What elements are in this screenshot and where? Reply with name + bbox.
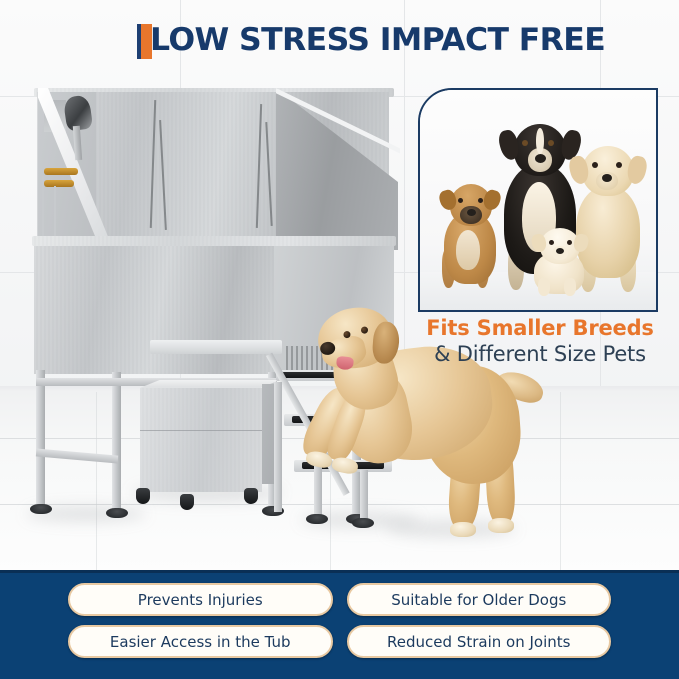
stair-leg	[274, 382, 282, 512]
dog-nose	[556, 248, 564, 254]
feature-pill-suitable-for-older-dogs[interactable]: Suitable for Older Dogs	[347, 583, 612, 616]
dog-eye	[567, 240, 572, 245]
dog-eye	[458, 198, 463, 203]
inset-photo-panel	[418, 88, 658, 312]
inset-caption-line2: & Different Size Pets	[418, 341, 662, 367]
dog-nose	[602, 174, 612, 182]
dog-eye	[616, 162, 622, 168]
dog-paw	[331, 456, 359, 475]
dog-chest-marking	[456, 230, 480, 270]
cabinet-drawer-seam	[140, 430, 262, 431]
caster-wheel	[136, 488, 150, 504]
dog-eye	[522, 140, 528, 146]
inset-dog-tan-mixed-breed	[436, 182, 502, 290]
inset-caption: Fits Smaller Breeds & Different Size Pet…	[418, 316, 662, 367]
tub-leg	[112, 372, 121, 514]
feature-pill-reduced-strain-on-joints[interactable]: Reduced Strain on Joints	[347, 625, 612, 658]
dog-eye	[361, 326, 369, 334]
dog-paw	[538, 278, 550, 296]
inset-dog-cream-labrador-puppy	[530, 228, 590, 296]
dog-nose	[535, 154, 546, 163]
feature-banner: Prevents Injuries Suitable for Older Dog…	[0, 570, 679, 679]
feature-pill-grid: Prevents Injuries Suitable for Older Dog…	[0, 583, 679, 658]
dog-eye	[478, 198, 483, 203]
dog-nose	[467, 209, 476, 216]
feature-pill-easier-access-in-the-tub[interactable]: Easier Access in the Tub	[68, 625, 333, 658]
tub-front-panel	[34, 246, 274, 374]
four-dogs-photo	[420, 90, 656, 310]
leveling-foot	[30, 504, 52, 514]
dog-paw	[488, 518, 514, 533]
dog-eye	[548, 140, 554, 146]
dog-face-blaze	[536, 128, 544, 154]
floor-tile-seam	[560, 392, 561, 572]
dog-eye	[592, 162, 598, 168]
caster-wheel	[244, 488, 258, 504]
product-feature-poster: LOW STRESS IMPACT FREE	[0, 0, 679, 679]
floor-tile-seam	[96, 392, 97, 572]
tub-rim	[32, 236, 396, 246]
tub-leg	[36, 370, 45, 510]
caster-wheel	[180, 494, 194, 510]
dog-paw	[450, 522, 476, 537]
page-title: LOW STRESS IMPACT FREE	[150, 17, 605, 63]
leveling-foot	[106, 508, 128, 518]
dog-eye	[549, 240, 554, 245]
dog-paw	[564, 278, 576, 296]
faucet-valve	[44, 168, 78, 175]
inset-caption-line1: Fits Smaller Breeds	[418, 316, 662, 341]
rolling-storage-cabinet	[140, 388, 262, 492]
dog-head	[314, 303, 396, 373]
feature-pill-prevents-injuries[interactable]: Prevents Injuries	[68, 583, 333, 616]
